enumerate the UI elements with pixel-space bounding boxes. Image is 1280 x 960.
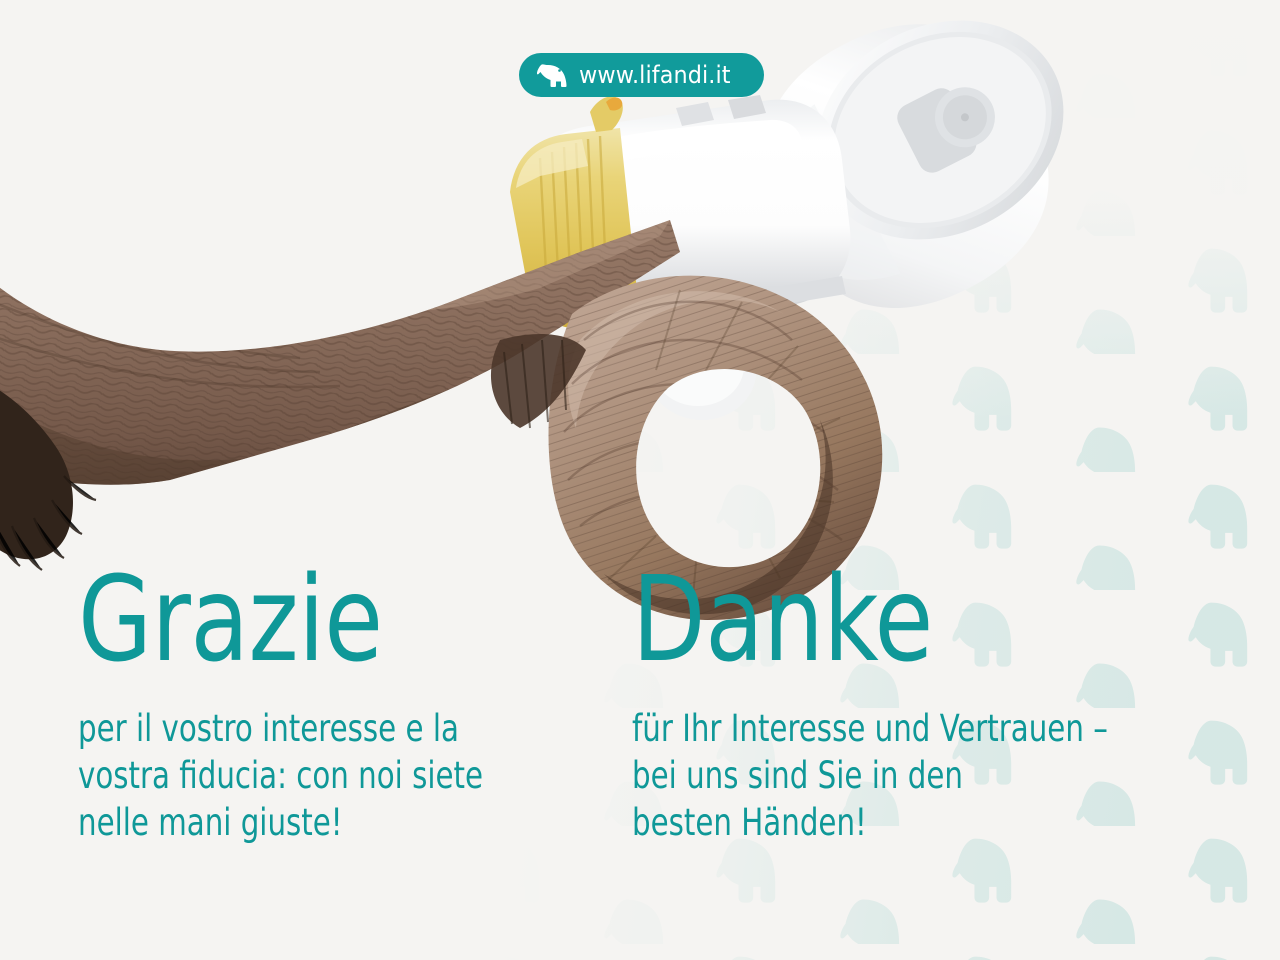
body-italian: per il vostro interesse e la vostra fidu… — [78, 706, 502, 847]
poster-canvas: www.lifandi.it Grazie per il vostro inte… — [0, 0, 1280, 960]
elephant-tail-tuft — [0, 370, 96, 570]
column-german: Danke für Ihr Interesse und Vertrauen – … — [560, 560, 1260, 847]
url-badge[interactable]: www.lifandi.it — [519, 53, 764, 97]
url-text: www.lifandi.it — [579, 63, 731, 87]
body-german: für Ihr Interesse und Vertrauen – bei un… — [632, 706, 1185, 847]
headline-italian: Grazie — [78, 560, 512, 678]
message-columns: Grazie per il vostro interesse e la vost… — [0, 560, 1280, 847]
column-italian: Grazie per il vostro interesse e la vost… — [0, 560, 560, 847]
elephant-icon — [537, 63, 567, 87]
headline-german: Danke — [632, 560, 1197, 678]
